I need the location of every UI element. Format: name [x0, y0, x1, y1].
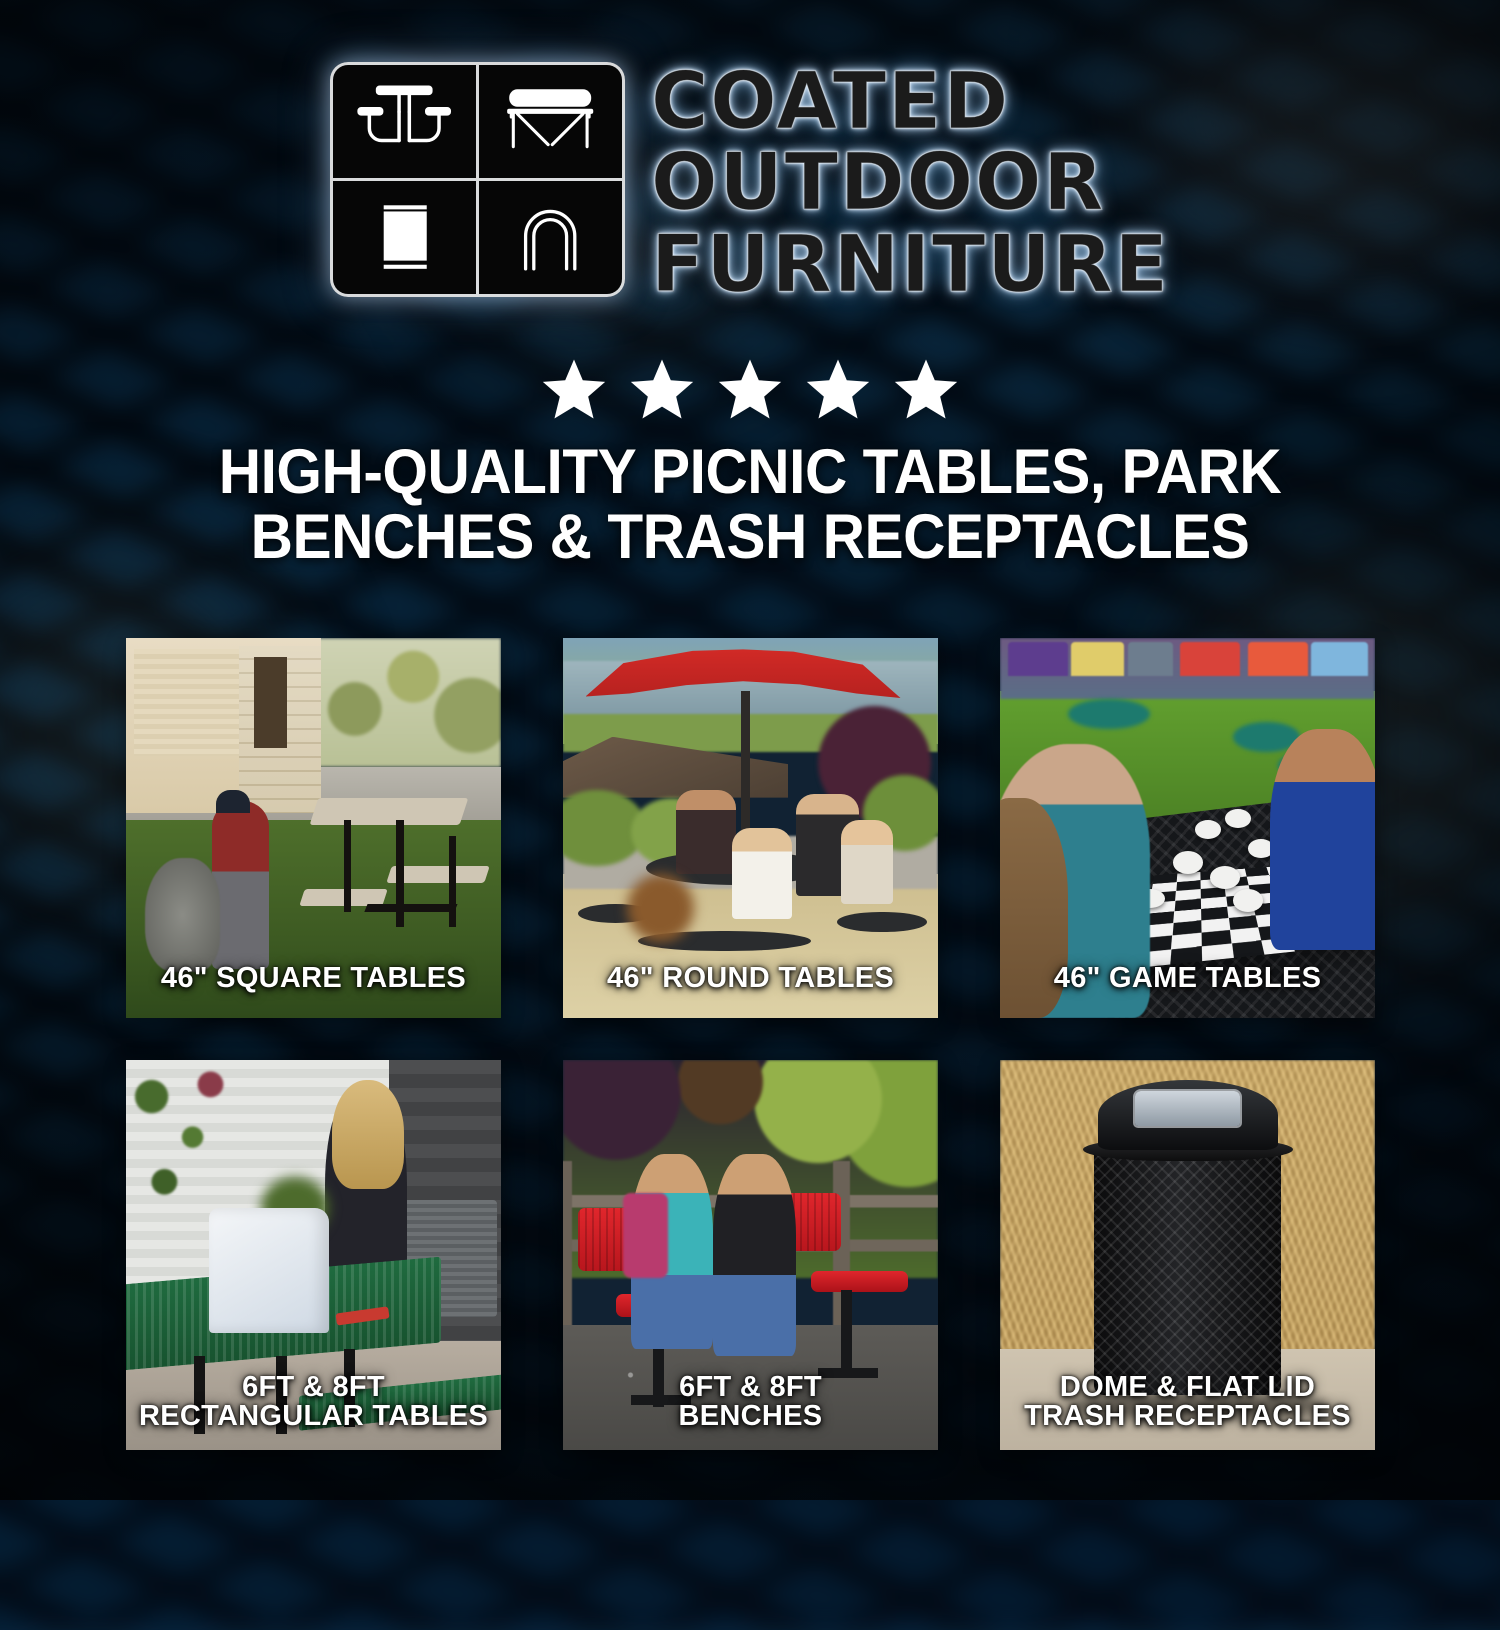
page-title-line-2: BENCHES & TRASH RECEPTACLES: [118, 505, 1383, 570]
flat-lid-trash-receptacle-icon: [333, 181, 476, 294]
product-caption: 46" GAME TABLES: [1006, 964, 1369, 994]
product-caption-line-2: TRASH RECEPTACLES: [1006, 1402, 1369, 1432]
brand-header: COATED OUTDOOR FURNITURE: [0, 62, 1500, 303]
star-icon: [538, 355, 610, 423]
star-icon: [626, 355, 698, 423]
product-card-benches[interactable]: 6FT & 8FT BENCHES: [563, 1060, 938, 1450]
brand-name-line-1: COATED: [651, 64, 1010, 140]
dome-lid-trash-receptacle-icon: [479, 181, 622, 294]
product-caption: 6FT & 8FT RECTANGULAR TABLES: [132, 1373, 495, 1432]
product-caption: 6FT & 8FT BENCHES: [569, 1373, 932, 1432]
product-caption-line-1: 6FT & 8FT: [132, 1373, 495, 1403]
brand-name-line-2: OUTDOOR: [651, 145, 1105, 221]
star-icon: [890, 355, 962, 423]
star-rating: [0, 355, 1500, 423]
product-grid: 46" SQUARE TABLES: [126, 638, 1375, 1450]
page-title-line-1: HIGH-QUALITY PICNIC TABLES, PARK: [118, 440, 1383, 505]
page-title: HIGH-QUALITY PICNIC TABLES, PARK BENCHES…: [118, 440, 1383, 570]
star-icon: [714, 355, 786, 423]
product-caption-line-2: BENCHES: [569, 1402, 932, 1432]
product-card-trash-receptacles[interactable]: DOME & FLAT LID TRASH RECEPTACLES: [1000, 1060, 1375, 1450]
product-caption-line-1: 6FT & 8FT: [569, 1373, 932, 1403]
product-photo-game-tables: [1000, 638, 1375, 1018]
product-caption-line-2: RECTANGULAR TABLES: [132, 1402, 495, 1432]
product-caption: 46" ROUND TABLES: [569, 964, 932, 994]
picnic-table-icon: [333, 65, 476, 178]
brand-name: COATED OUTDOOR FURNITURE: [651, 62, 1170, 303]
product-photo-square-tables: [126, 638, 501, 1018]
star-icon: [802, 355, 874, 423]
product-caption: DOME & FLAT LID TRASH RECEPTACLES: [1006, 1373, 1369, 1432]
product-photo-round-tables: [563, 638, 938, 1018]
product-card-game-tables[interactable]: 46" GAME TABLES: [1000, 638, 1375, 1018]
brand-logo-mark: [330, 62, 625, 297]
product-card-square-tables[interactable]: 46" SQUARE TABLES: [126, 638, 501, 1018]
product-card-round-tables[interactable]: 46" ROUND TABLES: [563, 638, 938, 1018]
product-caption-line-1: DOME & FLAT LID: [1006, 1373, 1369, 1403]
product-card-rectangular-tables[interactable]: 6FT & 8FT RECTANGULAR TABLES: [126, 1060, 501, 1450]
promo-banner: COATED OUTDOOR FURNITURE HIGH-QUALITY PI…: [0, 0, 1500, 1500]
park-bench-icon: [479, 65, 622, 178]
product-caption: 46" SQUARE TABLES: [132, 964, 495, 994]
brand-name-line-3: FURNITURE: [651, 227, 1170, 303]
